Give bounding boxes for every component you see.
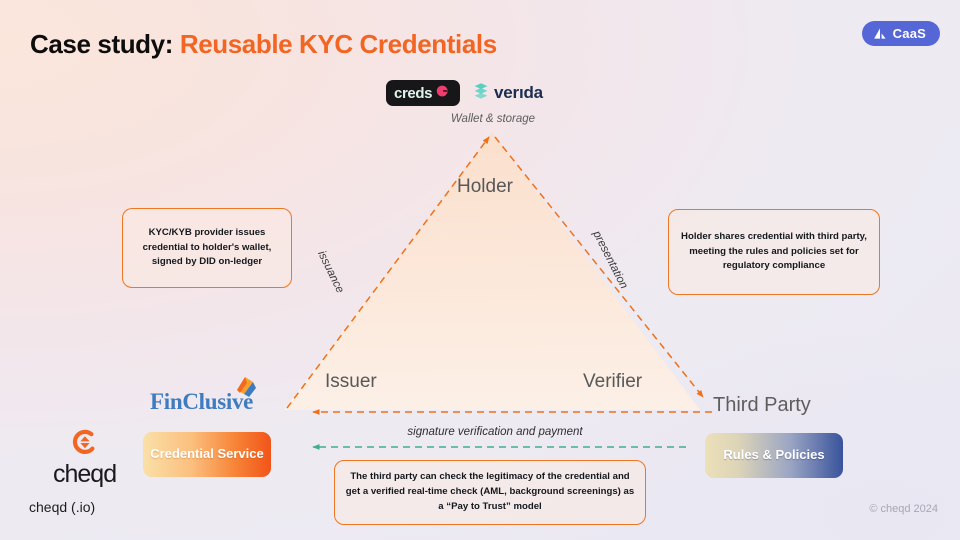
triangle-body bbox=[284, 132, 700, 410]
callout-issuance: KYC/KYB provider issues credential to ho… bbox=[122, 208, 292, 288]
footer-brand: cheqd (.io) bbox=[29, 499, 95, 515]
verida-logo-label: verıda bbox=[494, 83, 543, 103]
caas-sail-icon bbox=[873, 27, 888, 41]
cheqd-logo-label: cheqd bbox=[53, 460, 116, 489]
creds-logo-label: creds bbox=[394, 85, 432, 102]
rules-policies-line1: Rules bbox=[723, 447, 758, 463]
wallet-logo-row: creds bbox=[386, 78, 576, 108]
cheqd-circle-icon bbox=[71, 428, 99, 461]
slide-canvas: Case study: Reusable KYC Credentials Caa… bbox=[0, 0, 960, 540]
wallet-storage-caption: Wallet & storage bbox=[390, 113, 596, 125]
caas-badge-label: CaaS bbox=[893, 26, 926, 41]
page-title: Case study: Reusable KYC Credentials bbox=[30, 29, 497, 60]
callout-presentation: Holder shares credential with third part… bbox=[668, 209, 880, 295]
copyright-text: © cheqd 2024 bbox=[869, 503, 938, 515]
credential-service-line1: Credential bbox=[150, 446, 214, 462]
creds-logo[interactable]: creds bbox=[386, 80, 460, 106]
credential-service-pill[interactable]: Credential Service bbox=[143, 432, 271, 477]
role-label-issuer: Issuer bbox=[325, 371, 377, 393]
role-label-third-party: Third Party bbox=[713, 394, 811, 417]
flow-label-signature-verification: signature verification and payment bbox=[330, 426, 660, 438]
role-label-holder: Holder bbox=[457, 176, 513, 198]
verida-logo[interactable]: verıda bbox=[472, 82, 543, 105]
finclusive-chevron-icon bbox=[223, 374, 257, 405]
title-prefix: Case study: bbox=[30, 29, 173, 59]
cheqd-logo[interactable]: cheqd bbox=[53, 428, 116, 489]
caas-badge[interactable]: CaaS bbox=[862, 21, 940, 46]
callout-third-party: The third party can check the legitimacy… bbox=[334, 460, 646, 525]
credential-service-line2: Service bbox=[217, 446, 263, 462]
verida-hex-stack-icon bbox=[472, 82, 490, 105]
role-label-verifier: Verifier bbox=[583, 371, 642, 393]
finclusive-logo[interactable]: FinClusive bbox=[150, 390, 253, 413]
rules-policies-pill[interactable]: Rules & Policies bbox=[705, 433, 843, 478]
rules-policies-line2: & Policies bbox=[762, 447, 824, 463]
creds-dot-cluster-icon bbox=[436, 83, 452, 104]
title-accent: Reusable KYC Credentials bbox=[180, 29, 497, 59]
